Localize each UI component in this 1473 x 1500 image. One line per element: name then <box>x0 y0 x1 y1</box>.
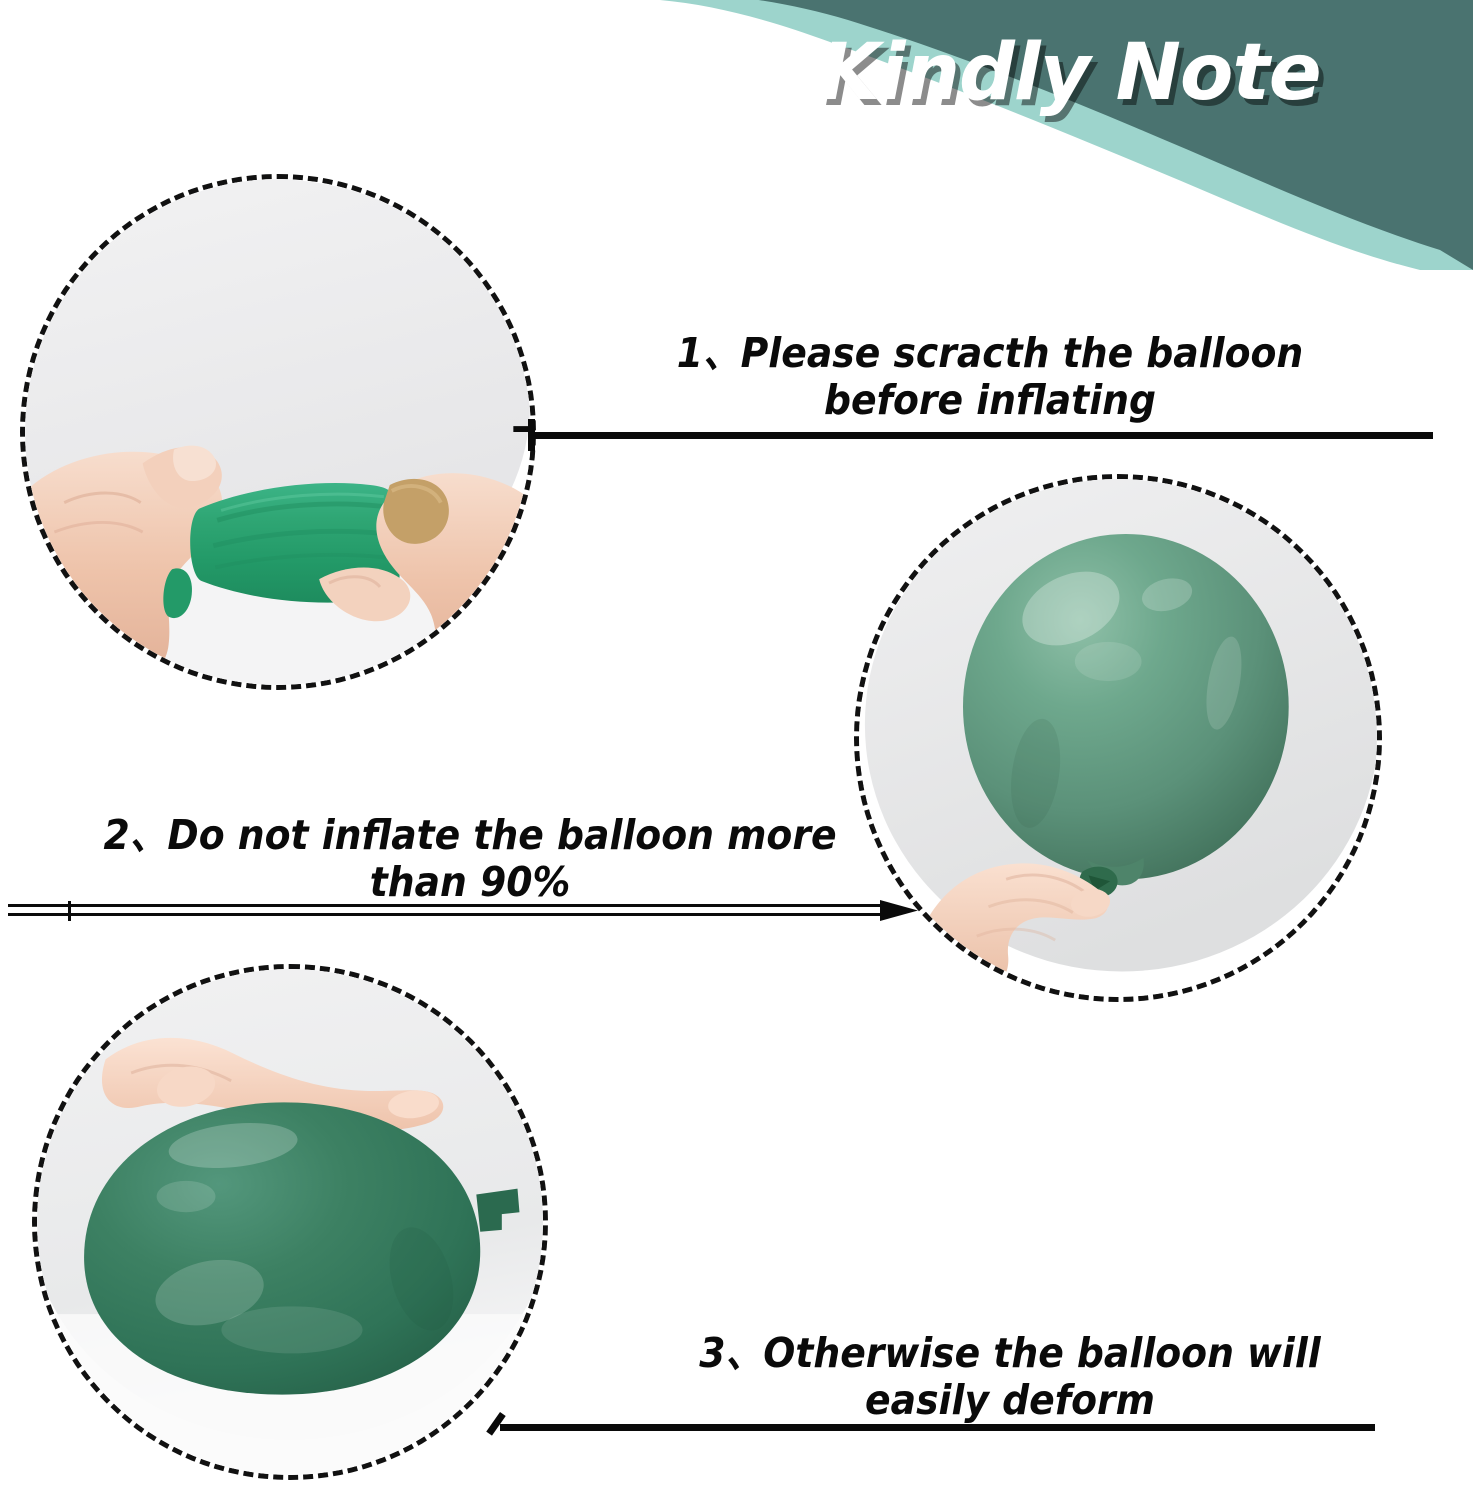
note-text-3: 3、Otherwise the balloon will easily defo… <box>624 1330 1397 1424</box>
note-1-text-1: Please scracth the balloon <box>741 329 1304 377</box>
note-2-number: 2、 <box>103 811 167 859</box>
note-1-number: 1、 <box>677 329 741 377</box>
connector-rule-1 <box>528 432 1433 439</box>
note-1-line-1: 1、Please scracth the balloon <box>594 330 1385 377</box>
note-3-line-2: easily deform <box>624 1377 1397 1424</box>
deformed-balloon-illustration <box>37 969 543 1475</box>
photo-hands-stretching-balloon <box>20 174 536 690</box>
note-3-number: 3、 <box>699 1329 763 1377</box>
note-2-line-1: 2、Do not inflate the balloon more <box>84 812 857 859</box>
photo-1-image <box>25 179 531 685</box>
photo-2-image <box>859 479 1377 997</box>
hands-stretching-balloon-illustration <box>25 179 531 685</box>
note-2-text-1: Do not inflate the balloon more <box>167 811 836 859</box>
note-text-1: 1、Please scracth the balloon before infl… <box>594 330 1385 424</box>
note-text-2: 2、Do not inflate the balloon more than 9… <box>84 812 857 906</box>
note-1-line-2: before inflating <box>594 377 1385 424</box>
note-3-text-1: Otherwise the balloon will <box>763 1329 1320 1377</box>
inflated-balloon <box>963 534 1289 879</box>
double-line-arrow <box>8 900 918 922</box>
connector-rule-2 <box>8 900 918 922</box>
inflated-balloon-illustration <box>859 479 1377 997</box>
connector-rule-3 <box>500 1424 1375 1431</box>
photo-3-image <box>37 969 543 1475</box>
photo-hand-holding-inflated-balloon <box>854 474 1382 1002</box>
page-title: Kindly Note <box>770 28 1370 118</box>
note-3-line-1: 3、Otherwise the balloon will <box>624 1330 1397 1377</box>
photo-hand-pressing-deformed-balloon <box>32 964 548 1480</box>
